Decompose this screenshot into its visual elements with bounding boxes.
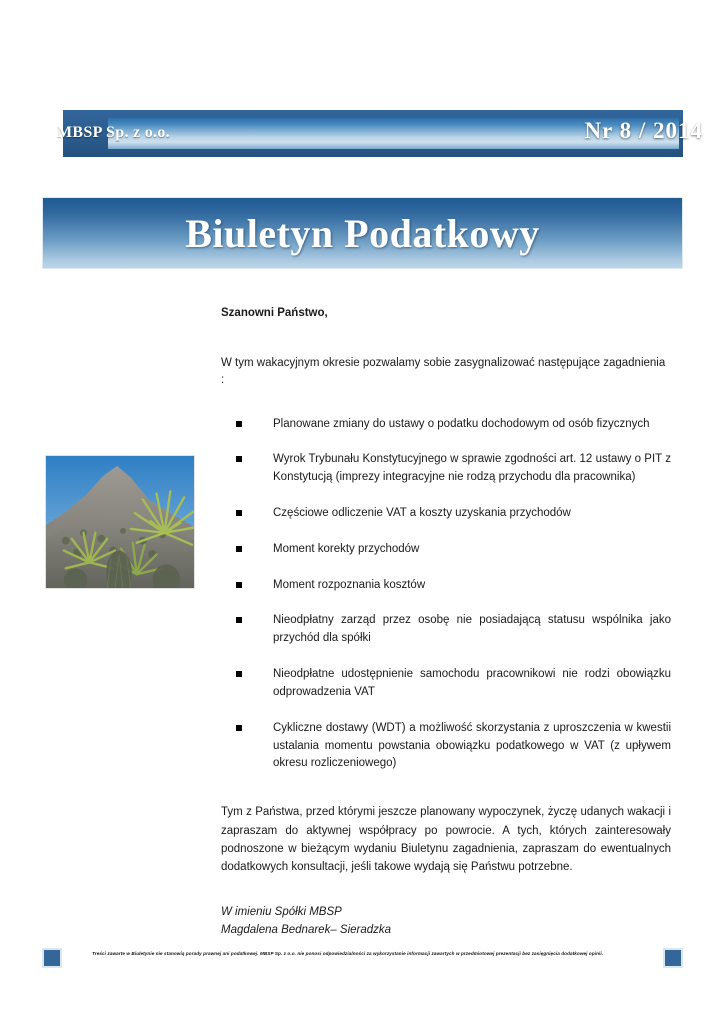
page-title: Biuletyn Podatkowy xyxy=(185,210,540,257)
square-bullet-icon xyxy=(236,546,242,552)
square-bullet-icon xyxy=(236,510,242,516)
square-bullet-icon xyxy=(236,456,242,462)
issue-number-label: Nr 8 / 2014 xyxy=(584,118,703,144)
signature-line-1: W imieniu Spółki MBSP xyxy=(221,903,671,921)
document-page: MBSP Sp. z o.o. Nr 8 / 2014 Biuletyn Pod… xyxy=(0,0,725,1024)
square-bullet-icon xyxy=(236,671,242,677)
intro-paragraph: W tym wakacyjnym okresie pozwalamy sobie… xyxy=(221,355,671,390)
square-bullet-icon xyxy=(236,617,242,623)
square-bullet-icon xyxy=(236,582,242,588)
list-item-label: Moment rozpoznania kosztów xyxy=(273,579,425,591)
list-item: Nieodpłatny zarząd przez osobę nie posia… xyxy=(221,612,671,648)
list-item: Cykliczne dostawy (WDT) a możliwość skor… xyxy=(221,720,671,773)
square-bullet-icon xyxy=(236,421,242,427)
closing-paragraph: Tym z Państwa, przed którymi jeszcze pla… xyxy=(221,803,671,877)
landscape-photo xyxy=(45,455,195,589)
list-item-label: Nieodpłatne udostępnienie samochodu prac… xyxy=(273,668,671,698)
list-item-label: Planowane zmiany do ustawy o podatku doc… xyxy=(273,418,650,430)
list-item-label: Częściowe odliczenie VAT a koszty uzyska… xyxy=(273,507,571,519)
square-bullet-icon xyxy=(236,725,242,731)
list-item: Częściowe odliczenie VAT a koszty uzyska… xyxy=(221,505,671,523)
signature-block: W imieniu Spółki MBSP Magdalena Bednarek… xyxy=(221,903,671,940)
list-item-label: Moment korekty przychodów xyxy=(273,543,419,555)
topics-list: Planowane zmiany do ustawy o podatku doc… xyxy=(221,416,671,774)
letter-content: Szanowni Państwo, W tym wakacyjnym okres… xyxy=(221,305,671,940)
list-item-label: Nieodpłatny zarząd przez osobę nie posia… xyxy=(273,614,671,644)
list-item: Moment korekty przychodów xyxy=(221,541,671,559)
footer-square-right-icon xyxy=(663,948,683,968)
salutation: Szanowni Państwo, xyxy=(221,305,671,321)
footer-square-left-icon xyxy=(42,948,62,968)
footer-disclaimer: Treści zawarte w Biuletynie nie stanowią… xyxy=(92,951,652,958)
list-item: Nieodpłatne udostępnienie samochodu prac… xyxy=(221,666,671,702)
list-item: Wyrok Trybunału Konstytucyjnego w sprawi… xyxy=(221,451,671,487)
company-name: MBSP Sp. z o.o. xyxy=(57,124,170,142)
title-banner: Biuletyn Podatkowy xyxy=(42,197,683,269)
list-item-label: Cykliczne dostawy (WDT) a możliwość skor… xyxy=(273,722,671,770)
list-item-label: Wyrok Trybunału Konstytucyjnego w sprawi… xyxy=(273,453,671,483)
list-item: Moment rozpoznania kosztów xyxy=(221,577,671,595)
signature-line-2: Magdalena Bednarek– Sieradzka xyxy=(221,921,671,939)
list-item: Planowane zmiany do ustawy o podatku doc… xyxy=(221,416,671,434)
desert-mountain-yucca-image xyxy=(46,456,194,588)
